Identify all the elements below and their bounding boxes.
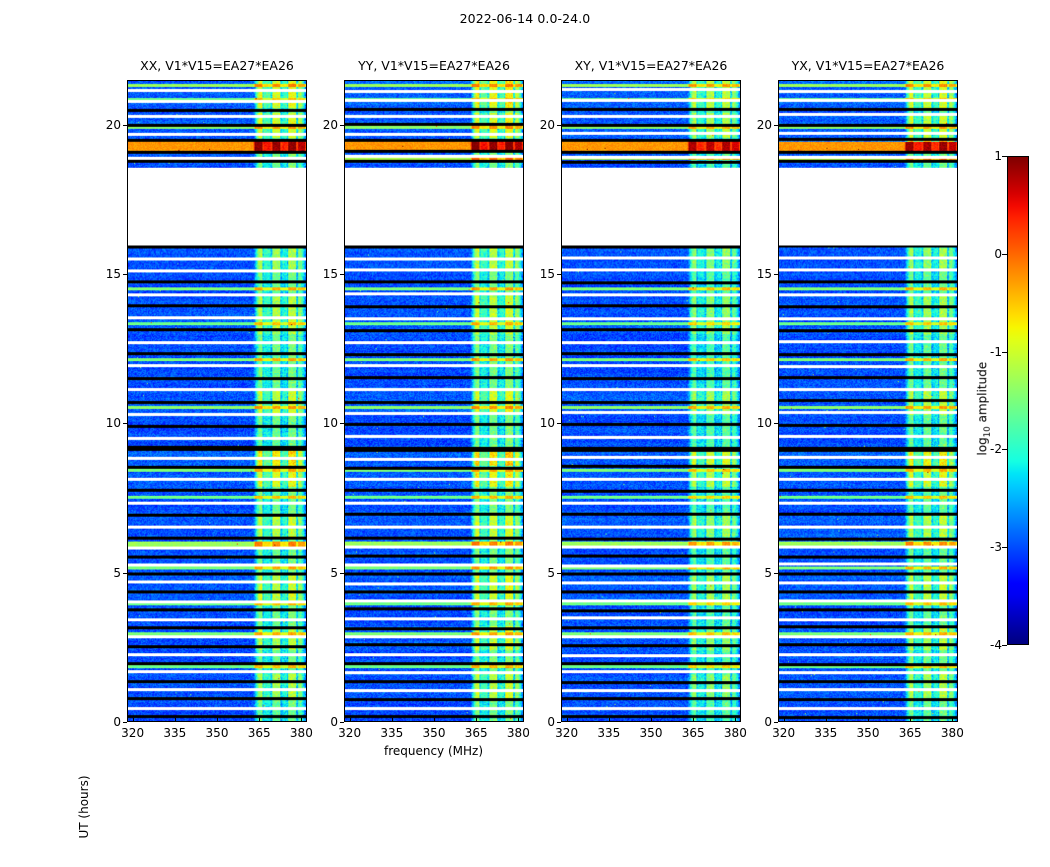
x-tick-mark: [952, 718, 953, 722]
x-tick-label: 335: [589, 726, 629, 740]
x-tick-mark: [567, 718, 568, 722]
y-tick-mark: [557, 274, 561, 275]
y-tick-mark: [557, 573, 561, 574]
y-tick-mark: [340, 274, 344, 275]
x-tick-label: 365: [890, 726, 930, 740]
x-tick-mark: [518, 718, 519, 722]
x-tick-mark: [434, 718, 435, 722]
colorbar-label-tail: amplitude: [975, 362, 989, 426]
figure-suptitle: 2022-06-14 0.0-24.0: [0, 11, 1050, 26]
x-tick-label: 320: [113, 726, 153, 740]
y-tick-mark: [774, 722, 778, 723]
colorbar-tick-label: -4: [970, 638, 1002, 652]
y-tick-mark: [340, 125, 344, 126]
y-tick-label: 5: [87, 566, 121, 580]
y-tick-label: 10: [87, 416, 121, 430]
x-tick-label: 365: [673, 726, 713, 740]
waterfall-image-yy: [345, 81, 523, 721]
y-tick-mark: [557, 722, 561, 723]
x-tick-mark: [651, 718, 652, 722]
x-tick-label: 335: [372, 726, 412, 740]
x-tick-mark: [133, 718, 134, 722]
y-tick-label: 5: [738, 566, 772, 580]
x-tick-mark: [301, 718, 302, 722]
x-tick-mark: [693, 718, 694, 722]
y-tick-mark: [340, 423, 344, 424]
x-tick-label: 320: [764, 726, 804, 740]
x-tick-mark: [350, 718, 351, 722]
colorbar[interactable]: [1007, 156, 1029, 645]
x-tick-mark: [476, 718, 477, 722]
x-tick-mark: [175, 718, 176, 722]
y-tick-label: 20: [738, 118, 772, 132]
waterfall-panel-xy[interactable]: [561, 80, 741, 722]
panel-title-yy: YY, V1*V15=EA27*EA26: [344, 58, 524, 74]
y-tick-label: 20: [304, 118, 338, 132]
colorbar-tick-mark: [1002, 254, 1007, 255]
x-tick-mark: [735, 718, 736, 722]
y-tick-label: 15: [304, 267, 338, 281]
colorbar-tick-label: 1: [970, 149, 1002, 163]
colorbar-gradient: [1008, 157, 1028, 644]
colorbar-label-sub: 10: [983, 426, 993, 437]
x-tick-label: 350: [848, 726, 888, 740]
x-tick-label: 320: [330, 726, 370, 740]
y-tick-label: 20: [521, 118, 555, 132]
x-tick-label: 350: [631, 726, 671, 740]
x-tick-label: 365: [239, 726, 279, 740]
y-tick-mark: [123, 722, 127, 723]
y-tick-label: 5: [304, 566, 338, 580]
y-tick-mark: [123, 573, 127, 574]
x-tick-mark: [826, 718, 827, 722]
y-tick-mark: [774, 125, 778, 126]
waterfall-panel-yx[interactable]: [778, 80, 958, 722]
y-tick-mark: [123, 423, 127, 424]
waterfall-image-xy: [562, 81, 740, 721]
y-tick-label: 15: [521, 267, 555, 281]
y-tick-label: 15: [87, 267, 121, 281]
x-tick-mark: [259, 718, 260, 722]
x-tick-mark: [217, 718, 218, 722]
y-tick-mark: [774, 573, 778, 574]
colorbar-tick-mark: [1002, 645, 1007, 646]
y-tick-mark: [123, 125, 127, 126]
x-tick-mark: [392, 718, 393, 722]
y-tick-mark: [774, 274, 778, 275]
x-tick-label: 350: [414, 726, 454, 740]
x-tick-label: 365: [456, 726, 496, 740]
y-tick-label: 10: [304, 416, 338, 430]
figure-canvas: 2022-06-14 0.0-24.0 XX, V1*V15=EA27*EA26…: [0, 0, 1050, 800]
y-tick-mark: [557, 423, 561, 424]
waterfall-image-xx: [128, 81, 306, 721]
waterfall-panel-xx[interactable]: [127, 80, 307, 722]
panel-title-yx: YX, V1*V15=EA27*EA26: [778, 58, 958, 74]
x-tick-mark: [609, 718, 610, 722]
x-tick-label: 380: [715, 726, 755, 740]
y-tick-mark: [340, 573, 344, 574]
colorbar-tick-label: -3: [970, 540, 1002, 554]
colorbar-tick-mark: [1002, 156, 1007, 157]
waterfall-panel-yy[interactable]: [344, 80, 524, 722]
colorbar-tick-mark: [1002, 352, 1007, 353]
y-tick-mark: [340, 722, 344, 723]
waterfall-image-yx: [779, 81, 957, 721]
x-tick-label: 350: [197, 726, 237, 740]
colorbar-tick-mark: [1002, 449, 1007, 450]
y-tick-mark: [557, 125, 561, 126]
panel-title-xx: XX, V1*V15=EA27*EA26: [127, 58, 307, 74]
x-tick-label: 380: [498, 726, 538, 740]
panel-title-xy: XY, V1*V15=EA27*EA26: [561, 58, 741, 74]
x-axis-label: frequency (MHz): [127, 744, 740, 758]
x-tick-mark: [868, 718, 869, 722]
x-tick-mark: [910, 718, 911, 722]
colorbar-tick-mark: [1002, 547, 1007, 548]
colorbar-label-main: log: [975, 437, 989, 455]
y-tick-label: 5: [521, 566, 555, 580]
y-tick-label: 15: [738, 267, 772, 281]
x-tick-label: 320: [547, 726, 587, 740]
y-tick-label: 10: [521, 416, 555, 430]
y-tick-label: 20: [87, 118, 121, 132]
x-tick-label: 335: [806, 726, 846, 740]
y-tick-label: 10: [738, 416, 772, 430]
y-tick-mark: [774, 423, 778, 424]
colorbar-tick-label: 0: [970, 247, 1002, 261]
x-tick-label: 335: [155, 726, 195, 740]
x-tick-label: 380: [281, 726, 321, 740]
x-tick-mark: [784, 718, 785, 722]
x-tick-label: 380: [932, 726, 972, 740]
y-tick-mark: [123, 274, 127, 275]
